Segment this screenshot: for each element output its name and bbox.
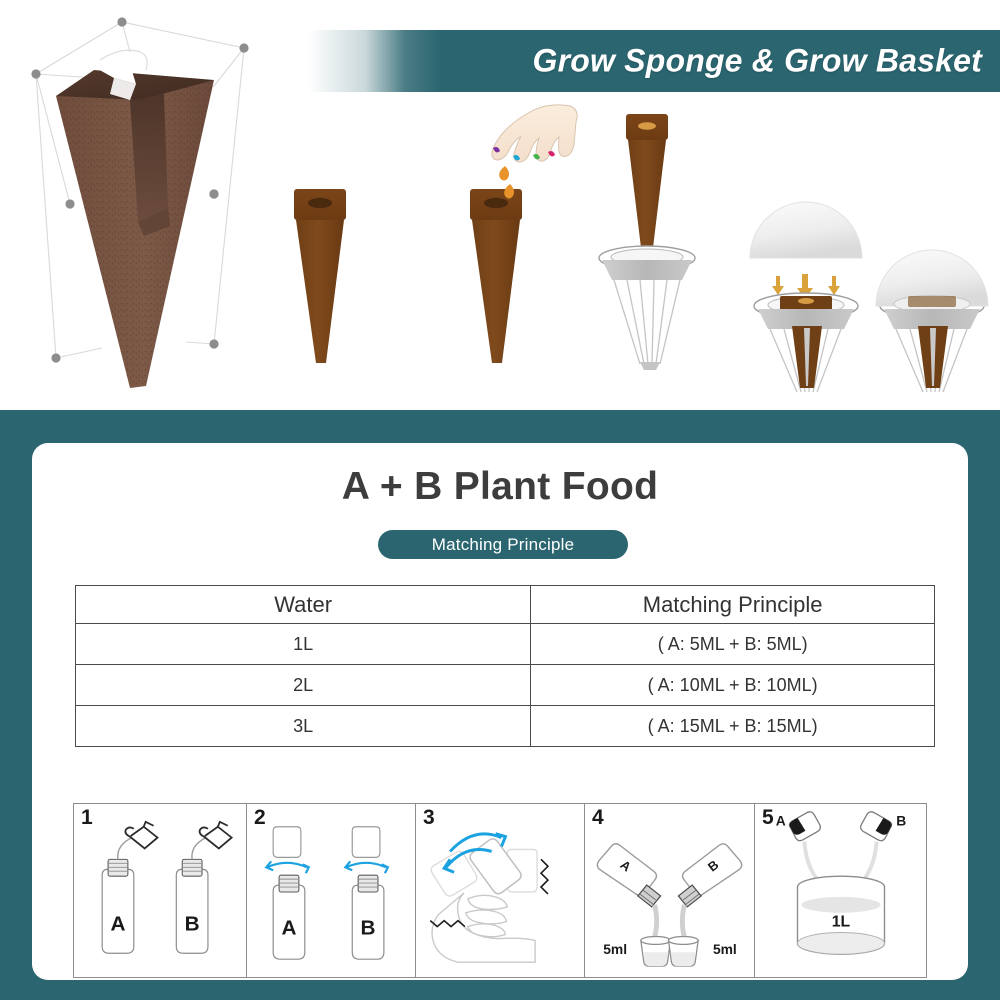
grow-sponge-hero-illustration — [18, 8, 288, 398]
sequence-item-seeding — [470, 105, 577, 363]
sequence-item-insert-basket — [599, 114, 695, 370]
plant-food-title: A + B Plant Food — [32, 465, 968, 509]
instruction-step-1: 1 — [74, 804, 247, 977]
step-2-illustration: A — [247, 804, 415, 977]
dosage-table: Water Matching Principle 1L ( A: 5ML + B… — [75, 585, 935, 747]
table-row: 1L ( A: 5ML + B: 5ML) — [76, 624, 935, 665]
instruction-step-3: 3 — [416, 804, 585, 977]
step-number: 2 — [254, 806, 266, 830]
step-5-illustration: A B 1L — [755, 804, 926, 977]
bottle-label-b: B — [185, 913, 200, 936]
cell-water: 3L — [76, 706, 531, 747]
page-title: Grow Sponge & Grow Basket — [532, 43, 982, 80]
rotate-arrow-icon — [345, 861, 388, 873]
step-number: 5 — [762, 806, 774, 830]
step-4-illustration: A 5ml — [585, 804, 754, 977]
instruction-step-5: 5 A B — [755, 804, 926, 977]
instruction-step-4: 4 A — [585, 804, 755, 977]
sequence-item-sponge-plain — [294, 189, 346, 363]
table-row: 2L ( A: 10ML + B: 10ML) — [76, 665, 935, 706]
sequence-item-dome-closed — [876, 250, 988, 392]
plant-food-section: A + B Plant Food Matching Principle Wate… — [0, 410, 1000, 1000]
column-header-matching-principle: Matching Principle — [531, 586, 935, 624]
hand-icon — [492, 105, 577, 162]
step-number: 4 — [592, 806, 604, 830]
step-number: 3 — [423, 806, 435, 830]
column-header-water: Water — [76, 586, 531, 624]
pour-label-a: A — [776, 813, 786, 829]
page-title-banner: Grow Sponge & Grow Basket — [280, 30, 1000, 92]
matching-principle-badge-label: Matching Principle — [432, 535, 575, 555]
step-3-illustration — [416, 804, 584, 977]
pour-label-b: B — [896, 813, 906, 829]
step-1-illustration: A — [74, 804, 246, 977]
bottle-label-a: A — [110, 913, 125, 936]
bottle-label-a: A — [281, 916, 296, 939]
product-sequence-section: Grow Sponge & Grow Basket — [0, 0, 1000, 410]
table-row: 3L ( A: 15ML + B: 15ML) — [76, 706, 935, 747]
seed-icon — [504, 184, 514, 199]
cell-matching-principle: ( A: 15ML + B: 15ML) — [531, 706, 935, 747]
sequence-item-dome-lowering — [750, 202, 862, 392]
cell-water: 1L — [76, 624, 531, 665]
cell-matching-principle: ( A: 5ML + B: 5ML) — [531, 624, 935, 665]
instruction-step-2: 2 — [247, 804, 416, 977]
usage-sequence-illustration — [280, 100, 990, 400]
rotate-arrow-icon — [266, 861, 309, 873]
table-header-row: Water Matching Principle — [76, 586, 935, 624]
measure-label-left: 5ml — [603, 941, 627, 957]
cell-matching-principle: ( A: 10ML + B: 10ML) — [531, 665, 935, 706]
beaker-volume-label: 1L — [832, 914, 851, 931]
measure-label-right: 5ml — [713, 941, 737, 957]
cell-water: 2L — [76, 665, 531, 706]
step-number: 1 — [81, 806, 93, 830]
mixing-instructions-strip: 1 — [73, 803, 927, 978]
bottle-label-b: B — [361, 916, 376, 939]
seed-icon — [499, 166, 509, 181]
plant-food-card: A + B Plant Food Matching Principle Wate… — [32, 443, 968, 980]
matching-principle-badge: Matching Principle — [378, 530, 628, 559]
